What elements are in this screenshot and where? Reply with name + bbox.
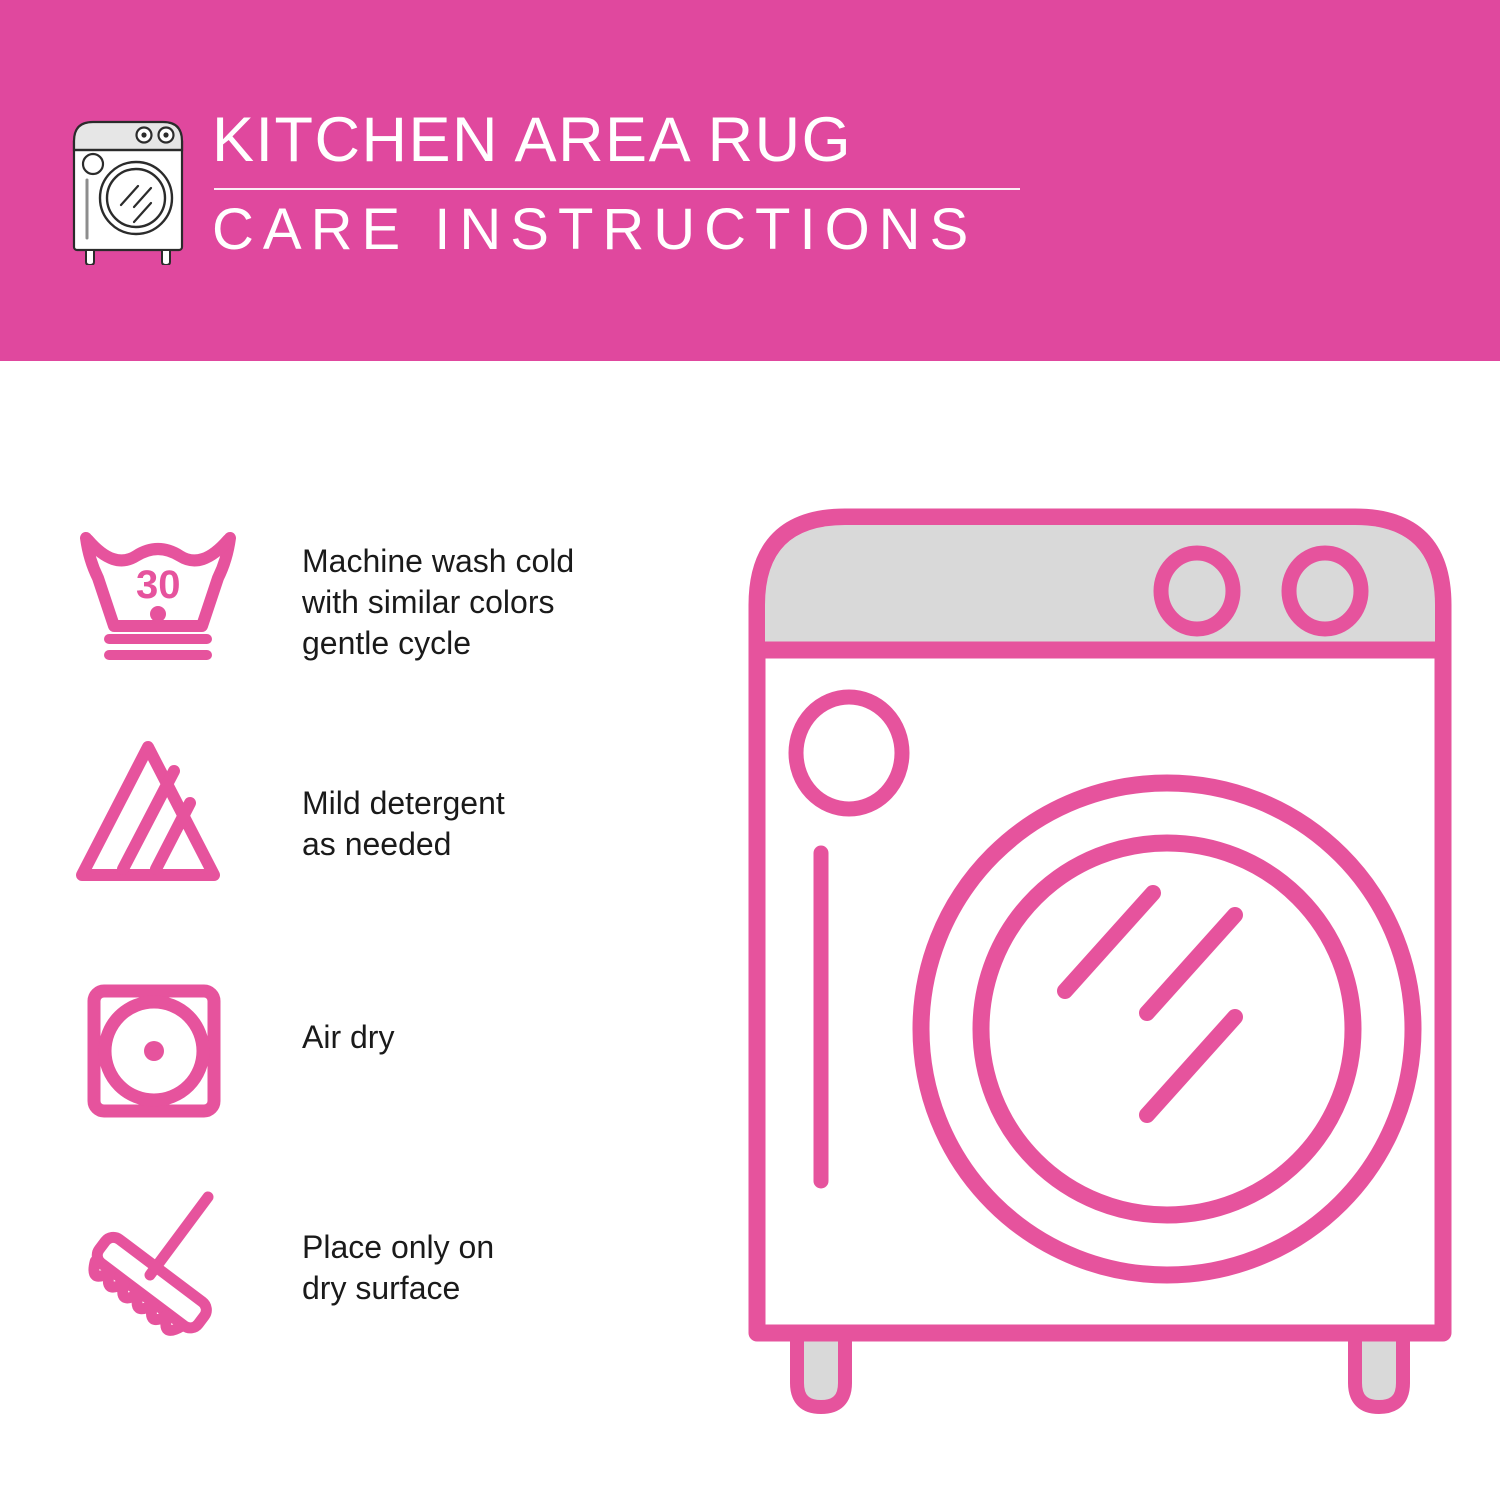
care-item-machine-wash: 30 Machine wash cold with similar colors… bbox=[0, 526, 700, 726]
wash-temp-label: 30 bbox=[136, 563, 181, 607]
washer-leg-left bbox=[797, 1333, 845, 1407]
broom-icon bbox=[70, 1179, 240, 1349]
care-instructions-page: KITCHEN AREA RUG CARE INSTRUCTIONS 30 bbox=[0, 0, 1500, 1500]
washing-machine-icon bbox=[66, 110, 190, 265]
care-item-label: Mild detergent as needed bbox=[302, 783, 662, 865]
care-item-label: Place only on dry surface bbox=[302, 1227, 662, 1309]
header-text-block: KITCHEN AREA RUG CARE INSTRUCTIONS bbox=[212, 104, 1042, 264]
care-item-label: Machine wash cold with similar colors ge… bbox=[302, 541, 662, 664]
care-instructions-list: 30 Machine wash cold with similar colors… bbox=[0, 361, 700, 1500]
page-header: KITCHEN AREA RUG CARE INSTRUCTIONS bbox=[0, 0, 1500, 361]
washer-dial-2 bbox=[1289, 553, 1361, 629]
care-item-air-dry: Air dry bbox=[0, 973, 700, 1173]
wash-tub-30-gentle-icon: 30 bbox=[76, 526, 240, 664]
page-subtitle: CARE INSTRUCTIONS bbox=[212, 196, 1042, 264]
title-divider bbox=[214, 188, 1020, 190]
washer-detergent-knob bbox=[796, 697, 902, 809]
tumble-dry-square-icon bbox=[86, 983, 222, 1119]
washer-leg-right bbox=[1355, 1333, 1403, 1407]
washer-dial-1 bbox=[1161, 553, 1233, 629]
page-title: KITCHEN AREA RUG bbox=[212, 104, 1042, 176]
washing-machine-illustration bbox=[735, 495, 1465, 1425]
bleach-triangle-icon bbox=[72, 737, 224, 885]
care-item-dry-surface: Place only on dry surface bbox=[0, 1179, 700, 1379]
care-item-label: Air dry bbox=[302, 1017, 662, 1058]
care-item-mild-detergent: Mild detergent as needed bbox=[0, 731, 700, 931]
